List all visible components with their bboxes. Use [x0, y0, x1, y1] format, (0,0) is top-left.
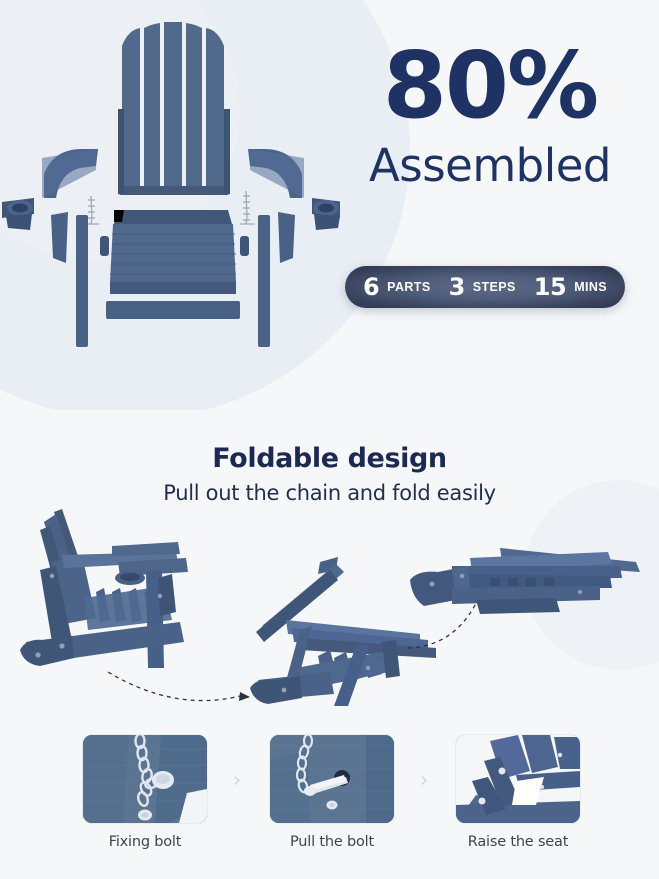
front-rail [106, 301, 240, 319]
backrest-side-right [224, 109, 230, 194]
connector-right [240, 236, 249, 256]
backrest-slats [122, 22, 224, 191]
chair-stage-folded [410, 548, 640, 614]
fold-arrow-1-head [239, 692, 250, 701]
backrest-bottom-rail [119, 186, 229, 195]
exploded-parts-diagram [0, 18, 340, 368]
seat-assembly [106, 210, 240, 319]
product-infographic: 80% Assembled 6 PARTS 3 STEPS 15 MINS Fo… [0, 0, 659, 879]
leg-support-right [278, 212, 295, 263]
mins-count: 15 [534, 273, 566, 301]
step-item[interactable]: Fixing bolt [75, 735, 215, 850]
step-thumbnail-image [83, 735, 207, 823]
step-thumbnails: Fixing bolt [0, 735, 659, 865]
chair-stage-upright [20, 509, 188, 668]
leg-support-left [51, 212, 68, 263]
assembly-percent-block: 80% Assembled [340, 42, 640, 192]
step-caption: Pull the bolt [262, 834, 402, 850]
specs-badge: 6 PARTS 3 STEPS 15 MINS [345, 266, 625, 308]
connector-left [100, 236, 109, 256]
step-separator-chevron-icon: › [233, 768, 242, 793]
step-thumbnail-image [270, 735, 394, 823]
step-item[interactable]: Pull the bolt [262, 735, 402, 850]
pulled-bolt-icon [270, 735, 394, 823]
backrest-side-left [118, 109, 124, 194]
mins-label: MINS [574, 280, 607, 294]
assembled-label: Assembled [340, 139, 640, 192]
steps-label: STEPS [473, 280, 516, 294]
step-item[interactable]: Raise the seat [448, 735, 588, 850]
folding-sequence-illustration [0, 500, 659, 730]
assembly-percent: 80% [340, 42, 640, 129]
step-thumbnail-image [456, 735, 580, 823]
parts-label: PARTS [387, 280, 430, 294]
steps-count: 3 [449, 273, 465, 301]
chair-stage-half-folded [250, 557, 436, 706]
fold-arrow-1 [108, 672, 240, 701]
chain-with-bolt-icon [83, 735, 207, 823]
leg-left [76, 215, 88, 347]
cup-holder-right [312, 198, 340, 230]
step-caption: Raise the seat [448, 834, 588, 850]
parts-count: 6 [363, 273, 379, 301]
foldable-design-title: Foldable design [0, 443, 659, 474]
leg-right [258, 215, 270, 347]
raised-seat-icon [456, 735, 580, 823]
step-caption: Fixing bolt [75, 834, 215, 850]
arm-left-top [42, 149, 96, 198]
step-separator-chevron-icon: › [420, 768, 429, 793]
arm-right-top [250, 149, 304, 198]
assembly-hero-section: 80% Assembled 6 PARTS 3 STEPS 15 MINS [0, 0, 659, 410]
cup-holder-left [2, 198, 34, 230]
chain-right [240, 191, 255, 224]
